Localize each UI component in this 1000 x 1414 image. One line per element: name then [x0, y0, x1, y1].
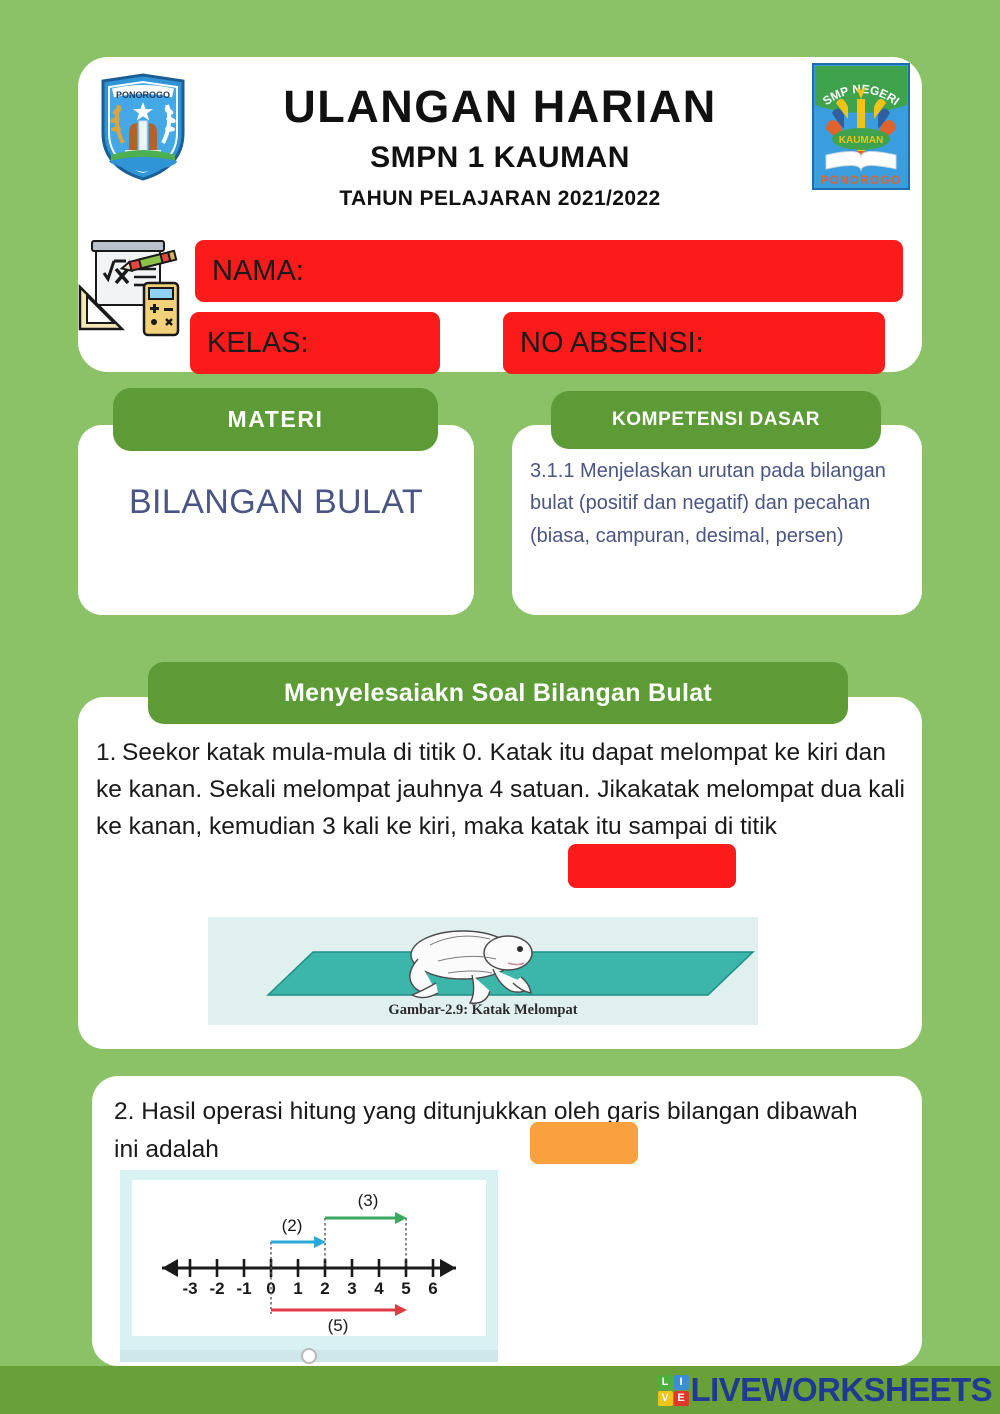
question-1-card: 1.Seekor katak mula-mula di titik 0. Kat…: [78, 697, 922, 1049]
numberline-figure: -3 -2 -1 0 1 2 3 4 5 6: [120, 1170, 498, 1350]
scrollbar-thumb[interactable]: [301, 1348, 317, 1364]
kompetensi-dasar-banner: KOMPETENSI DASAR: [551, 391, 881, 449]
liveworksheets-tiles: L I V E: [658, 1375, 689, 1406]
svg-text:6: 6: [428, 1279, 437, 1298]
nama-label: NAMA:: [212, 255, 304, 288]
svg-text:(2): (2): [282, 1216, 303, 1235]
materi-value: BILANGAN BULAT: [78, 483, 474, 522]
materi-card: BILANGAN BULAT: [78, 425, 474, 615]
lw-tile-e: E: [674, 1391, 689, 1406]
header-card: PONOROGO SMP NEGERI: [78, 57, 922, 372]
question-2-number: 2.: [114, 1098, 134, 1125]
kompetensi-dasar-card: 3.1.1 Menjelaskan urutan pada bilangan b…: [512, 425, 922, 615]
svg-text:-1: -1: [236, 1279, 251, 1298]
svg-text:-2: -2: [209, 1279, 224, 1298]
liveworksheets-logo: L I V E LIVEWORKSHEETS: [658, 1372, 992, 1408]
academic-year: TAHUN PELAJARAN 2021/2022: [78, 187, 922, 211]
svg-text:-3: -3: [182, 1279, 197, 1298]
no-absensi-label: NO ABSENSI:: [520, 327, 704, 360]
school-name: SMPN 1 KAUMAN: [78, 141, 922, 175]
numberline-horizontal-scrollbar[interactable]: [120, 1350, 498, 1362]
svg-text:(3): (3): [358, 1191, 379, 1210]
kompetensi-dasar-text: 3.1.1 Menjelaskan urutan pada bilangan b…: [530, 455, 902, 552]
kelas-label: KELAS:: [207, 327, 309, 360]
svg-text:4: 4: [374, 1279, 384, 1298]
kelas-field[interactable]: KELAS:: [190, 312, 440, 374]
question-1-number: 1.: [96, 734, 122, 771]
title-block: ULANGAN HARIAN SMPN 1 KAUMAN TAHUN PELAJ…: [78, 83, 922, 211]
numberline-diagram: -3 -2 -1 0 1 2 3 4 5 6: [132, 1180, 486, 1336]
lw-tile-l: L: [658, 1375, 673, 1390]
frog-figure-caption: Gambar-2.9: Katak Melompat: [208, 1002, 758, 1019]
nama-field[interactable]: NAMA:: [195, 240, 903, 302]
question-1-text: 1.Seekor katak mula-mula di titik 0. Kat…: [96, 734, 906, 846]
numberline-canvas: -3 -2 -1 0 1 2 3 4 5 6: [132, 1180, 486, 1336]
materi-banner: MATERI: [113, 388, 438, 451]
question-2-text: 2. Hasil operasi hitung yang ditunjukkan…: [114, 1093, 884, 1169]
svg-text:1: 1: [293, 1279, 302, 1298]
question-2-card: 2. Hasil operasi hitung yang ditunjukkan…: [92, 1076, 922, 1366]
question-1-answer-box[interactable]: [568, 844, 736, 888]
lw-tile-i: I: [674, 1375, 689, 1390]
liveworksheets-wordmark: LIVEWORKSHEETS: [691, 1371, 992, 1409]
frog-figure: Gambar-2.9: Katak Melompat: [208, 917, 758, 1025]
svg-text:2: 2: [320, 1279, 329, 1298]
math-tools-icon: [74, 231, 186, 341]
svg-text:3: 3: [347, 1279, 356, 1298]
lw-tile-v: V: [658, 1391, 673, 1406]
svg-text:5: 5: [401, 1279, 410, 1298]
no-absensi-field[interactable]: NO ABSENSI:: [503, 312, 885, 374]
page-title: ULANGAN HARIAN: [78, 83, 922, 130]
svg-text:(5): (5): [328, 1316, 349, 1335]
question-2-answer-box[interactable]: [530, 1122, 638, 1164]
exercise-banner: Menyelesaiakn Soal Bilangan Bulat: [148, 662, 848, 724]
